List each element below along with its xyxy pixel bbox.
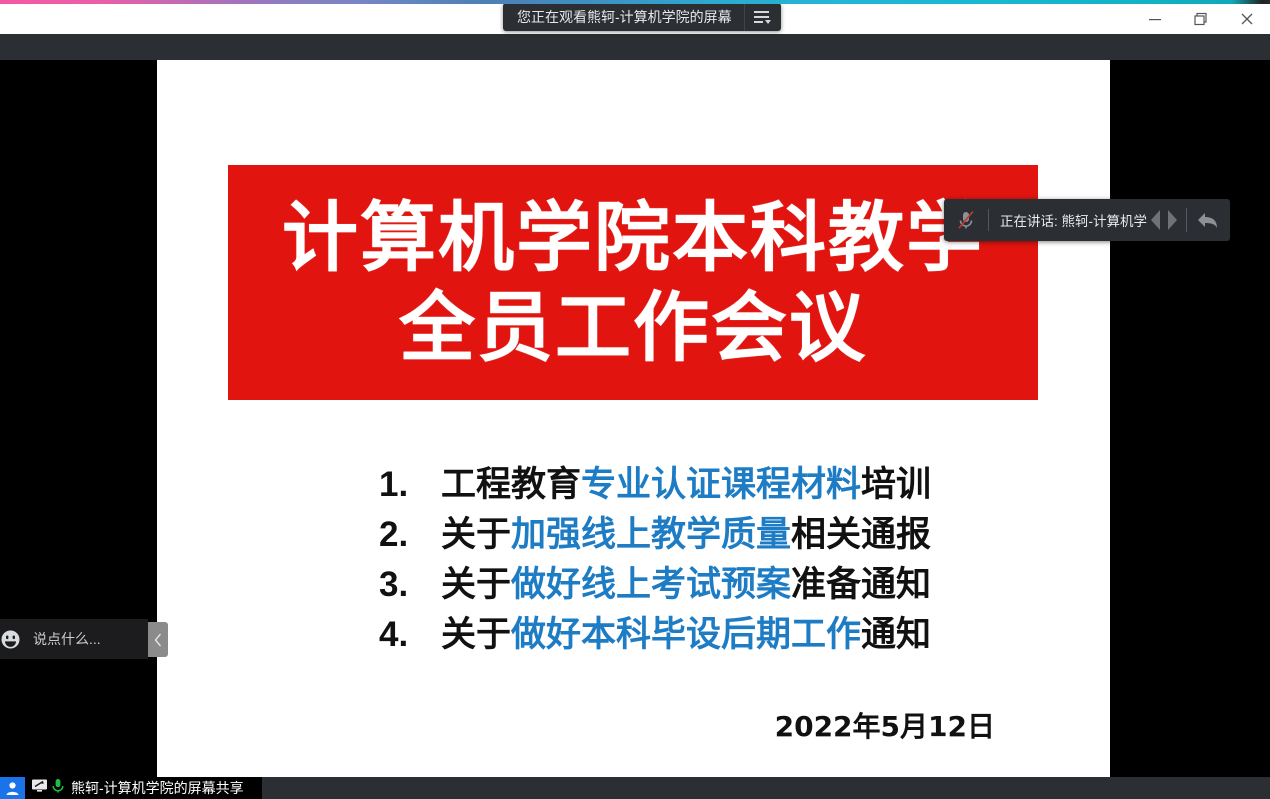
agenda-list: 1. 工程教育专业认证课程材料培训 2. 关于加强线上教学质量相关通报 3. 关… [379,460,1039,660]
microphone-active-icon [51,778,65,799]
agenda-item: 3. 关于做好线上考试预案准备通知 [379,560,1039,610]
collapse-panel-button[interactable] [148,622,168,657]
agenda-item-number: 1. [379,460,441,509]
agenda-item-number: 2. [379,510,441,559]
speaking-indicator: 正在讲话: 熊轲-计算机学院; [944,199,1230,241]
next-arrow-icon[interactable] [1164,199,1181,241]
restore-button[interactable] [1178,4,1224,34]
agenda-item-number: 3. [379,560,441,609]
agenda-item: 4. 关于做好本科毕设后期工作通知 [379,610,1039,660]
emoji-smile-icon[interactable] [0,619,21,659]
agenda-item-text: 关于做好线上考试预案准备通知 [441,561,931,610]
agenda-item: 2. 关于加强线上教学质量相关通报 [379,510,1039,560]
comment-input[interactable] [21,631,214,647]
return-arrow-icon[interactable] [1192,199,1224,241]
person-icon [0,777,25,799]
agenda-item: 1. 工程教育专业认证课程材料培训 [379,460,1039,510]
slide-title-line-1: 计算机学院本科教学 [282,197,984,278]
window-controls [1132,4,1270,34]
divider [1186,208,1187,232]
list-menu-icon[interactable] [745,3,781,31]
window-accent-gradient [0,0,1270,4]
speaking-indicator-nav [1147,199,1230,241]
close-button[interactable] [1224,4,1270,34]
slide-date: 2022年5月12日 [775,705,995,745]
minimize-button[interactable] [1132,4,1178,34]
viewing-notice-text: 您正在观看熊轲-计算机学院的屏幕 [503,3,744,31]
microphone-muted-icon [944,199,988,241]
meeting-window: 您正在观看熊轲-计算机学院的屏幕 [0,0,1270,799]
viewing-notice: 您正在观看熊轲-计算机学院的屏幕 [503,3,781,31]
screen-share-icon [31,778,48,798]
screen-share-status-text: 熊轲-计算机学院的屏幕共享 [69,777,244,799]
share-status-icons [25,778,69,799]
slide-title-line-2: 全员工作会议 [399,287,867,368]
agenda-item-number: 4. [379,610,441,659]
chevron-left-icon [154,633,163,647]
speaking-indicator-text: 正在讲话: 熊轲-计算机学院; [989,210,1147,230]
agenda-item-text: 工程教育专业认证课程材料培训 [441,461,931,510]
toolbar-band [0,34,1270,60]
agenda-item-text: 关于做好本科毕设后期工作通知 [441,611,931,660]
slide-title-banner: 计算机学院本科教学 全员工作会议 [228,165,1038,400]
comment-bar [0,619,148,659]
agenda-item-text: 关于加强线上教学质量相关通报 [441,511,931,560]
shared-screen-slide: 计算机学院本科教学 全员工作会议 1. 工程教育专业认证课程材料培训 2. 关于… [157,60,1110,777]
prev-arrow-icon[interactable] [1147,199,1164,241]
screen-share-status: 熊轲-计算机学院的屏幕共享 [0,777,262,799]
